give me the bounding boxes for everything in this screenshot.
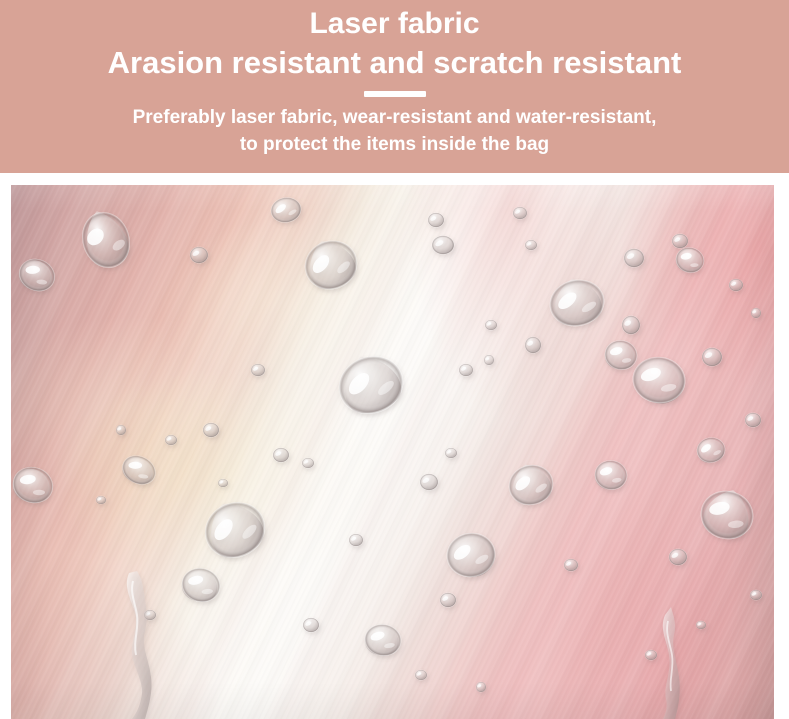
water-droplet [669, 549, 687, 566]
water-droplets-overlay [11, 185, 774, 719]
droplet-rim [630, 353, 689, 406]
droplet-rim [645, 650, 657, 661]
feature-banner: Laser fabric Arasion resistant and scrat… [0, 0, 789, 173]
water-droplet [485, 320, 497, 331]
water-droplet [303, 618, 319, 633]
droplet-rim [218, 479, 228, 487]
banner-description: Preferably laser fabric, wear-resistant … [0, 97, 789, 158]
water-droplet [362, 621, 404, 658]
water-droplet [74, 204, 137, 274]
droplet-rim [751, 308, 761, 319]
fabric-photo [11, 185, 774, 719]
water-droplet [428, 213, 444, 228]
droplet-rim [624, 249, 644, 268]
droplet-rim [702, 348, 722, 367]
water-droplet [751, 308, 761, 319]
droplet-rim [14, 253, 61, 297]
droplet-rim [196, 492, 275, 567]
water-droplet [443, 529, 499, 581]
water-droplet [622, 316, 640, 335]
water-droplet [513, 207, 527, 220]
water-droplet [218, 479, 228, 487]
droplet-rim [696, 621, 706, 629]
water-droplet [695, 484, 759, 545]
water-droplet [297, 231, 365, 297]
droplet-rim [545, 275, 608, 332]
water-droplet [203, 423, 219, 438]
water-droplet [564, 559, 578, 572]
droplet-rim [251, 364, 265, 377]
water-droplet [96, 496, 106, 504]
droplet-rim [485, 320, 497, 331]
water-droplet [11, 461, 58, 509]
fabric-photo-canvas [11, 185, 774, 719]
droplet-rim [729, 279, 743, 292]
water-droplet [116, 425, 126, 436]
water-droplet [484, 355, 494, 366]
water-droplet [702, 348, 722, 367]
droplet-rim [672, 234, 688, 249]
droplet-rim [513, 207, 527, 220]
water-droplet [504, 459, 558, 510]
droplet-rim [273, 448, 289, 463]
water-droplet [459, 364, 473, 377]
droplet-rim [476, 682, 486, 693]
droplet-rim [302, 458, 314, 469]
droplet-rim [459, 364, 473, 377]
water-droplet [269, 195, 304, 225]
droplet-rim [116, 425, 126, 436]
water-droplet [190, 247, 208, 264]
water-droplet [476, 682, 486, 693]
water-droplet [14, 253, 61, 297]
droplet-rim [673, 244, 708, 277]
droplet-rim [745, 413, 761, 428]
water-droplet [745, 413, 761, 428]
droplet-rim [75, 206, 137, 274]
water-droplet [117, 450, 160, 490]
water-droplet [445, 448, 457, 459]
droplet-rim [445, 448, 457, 459]
water-droplet [673, 244, 708, 277]
water-droplet [629, 353, 688, 406]
water-droplet [525, 337, 541, 354]
water-droplet [302, 458, 314, 469]
droplet-rim [303, 618, 319, 633]
droplet-rim [428, 213, 444, 228]
water-droplet [624, 249, 644, 268]
water-droplet [432, 236, 454, 255]
droplet-rim [622, 316, 640, 335]
droplet-rim [331, 347, 412, 423]
droplet-rim [178, 564, 224, 606]
banner-description-line-2: to protect the items inside the bag [0, 131, 789, 158]
water-droplet [415, 670, 427, 681]
droplet-rim [269, 195, 304, 225]
droplet-rim [190, 247, 208, 264]
droplet-rim [440, 593, 456, 608]
droplet-rim [165, 435, 177, 446]
water-droplet [251, 364, 265, 377]
water-droplet [525, 240, 537, 251]
water-droplet [545, 273, 609, 331]
droplet-rim [349, 534, 363, 547]
water-droplet [440, 593, 456, 608]
droplet-rim [564, 559, 578, 572]
water-droplet [420, 474, 438, 491]
droplet-rim [504, 460, 558, 510]
droplet-highlight [128, 462, 142, 469]
water-droplet [195, 491, 274, 568]
droplet-secondary-highlight [33, 490, 45, 495]
banner-headline: Arasion resistant and scratch resistant [0, 42, 789, 82]
water-droplet [695, 436, 727, 465]
droplet-rim [117, 450, 160, 490]
water-droplet [750, 590, 762, 601]
droplet-rim [669, 549, 687, 566]
droplet-rim [695, 436, 727, 465]
water-droplet [672, 234, 688, 249]
product-detail-page: Laser fabric Arasion resistant and scrat… [0, 0, 789, 719]
water-droplet [592, 458, 629, 493]
droplet-rim [420, 474, 438, 491]
water-droplet [178, 564, 224, 606]
water-droplet [330, 345, 411, 422]
droplet-rim [750, 590, 762, 601]
droplet-rim [443, 529, 499, 581]
droplet-rim [525, 240, 537, 251]
droplet-rim [695, 485, 758, 545]
water-droplet [165, 435, 177, 446]
banner-description-line-1: Preferably laser fabric, wear-resistant … [0, 104, 789, 131]
droplet-rim [297, 233, 364, 298]
droplet-rim [484, 355, 494, 366]
water-droplet [645, 650, 657, 661]
droplet-rim [96, 496, 106, 504]
droplet-rim [362, 621, 404, 658]
droplet-rim [592, 458, 629, 493]
page-title: Laser fabric [0, 0, 789, 42]
water-droplet [273, 448, 289, 463]
droplet-rim [415, 670, 427, 681]
water-droplet [729, 279, 743, 292]
droplet-rim [432, 236, 454, 255]
droplet-rim [11, 461, 58, 509]
water-droplet [349, 534, 363, 547]
water-droplet [602, 337, 640, 373]
banner-photo-separator [0, 173, 789, 185]
droplet-rim [602, 337, 640, 373]
droplet-rim [525, 337, 541, 354]
droplet-rim [203, 423, 219, 438]
water-droplet [696, 621, 706, 629]
